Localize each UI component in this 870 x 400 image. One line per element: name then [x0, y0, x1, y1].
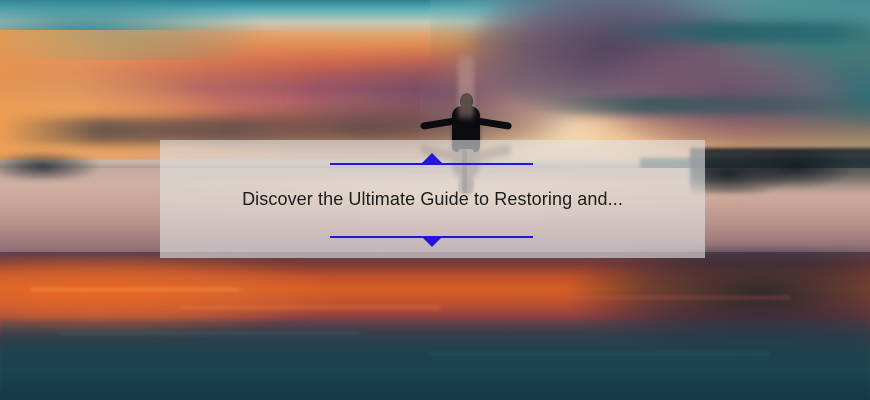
- page-title: Discover the Ultimate Guide to Restoring…: [160, 187, 705, 211]
- cloud-streak-top-right: [600, 22, 870, 42]
- rocks-left: [0, 150, 140, 180]
- rocks-right: [690, 148, 870, 194]
- headline-overlay-card[interactable]: Discover the Ultimate Guide to Restoring…: [160, 140, 705, 258]
- top-divider-rule: [330, 163, 533, 165]
- up-triangle-icon: [422, 153, 442, 163]
- legs-reflection: [458, 56, 474, 118]
- cloud-streak-right: [520, 96, 870, 114]
- water-ripple-3: [560, 296, 790, 299]
- down-triangle-icon: [422, 237, 442, 247]
- water-ripple-2: [180, 306, 440, 309]
- hero-banner: Discover the Ultimate Guide to Restoring…: [0, 0, 870, 400]
- water-ripple-5: [430, 352, 770, 355]
- water-ripple-1: [30, 288, 240, 291]
- water-ripple-4: [60, 332, 360, 335]
